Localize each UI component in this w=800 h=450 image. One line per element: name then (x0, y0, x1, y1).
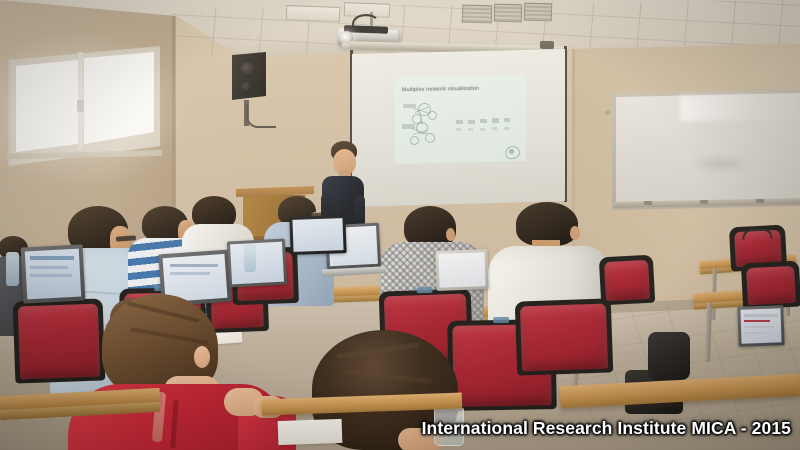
slide-smallmultiple (468, 120, 475, 124)
attendee-red-top (68, 288, 296, 450)
laptop-screen-content (744, 314, 778, 317)
slide-smallmultiple (480, 119, 487, 123)
ceiling-vent (524, 3, 552, 22)
laptop-screen-content (30, 266, 68, 269)
whiteboard-tray-clip (644, 201, 652, 205)
slide-smallmultiple (468, 128, 473, 131)
window-light-glow (0, 30, 190, 190)
chair-cushion (520, 304, 608, 372)
slide-smallmultiple (492, 118, 499, 123)
water-bottle[interactable] (6, 252, 19, 286)
chair[interactable] (741, 261, 800, 310)
slide-smallmultiple (480, 128, 485, 131)
ear (570, 226, 580, 240)
laptop[interactable] (738, 306, 792, 350)
slide-smallmultiple (492, 127, 497, 130)
slide-smallmultiple (456, 120, 463, 124)
chair-tag (493, 317, 509, 323)
slide-logo-inner-icon (509, 149, 514, 154)
slide-smallmultiple (504, 118, 510, 122)
laptop-screen-content (170, 264, 218, 267)
chair[interactable] (599, 255, 655, 306)
ceiling-vent (462, 5, 492, 24)
laptop-screen-content (170, 272, 210, 275)
laptop-screen-content (744, 332, 766, 334)
wall-hook (605, 110, 610, 115)
chair-handle (742, 228, 772, 240)
speaker-cable (246, 104, 276, 128)
slide-smallmultiple (456, 128, 461, 131)
laptop-screen (230, 242, 284, 285)
whiteboard-smudge (690, 155, 752, 173)
backpack (648, 332, 690, 380)
whiteboard-tray-clip (700, 200, 708, 204)
screen-roller-end-cap (540, 41, 554, 49)
chair-cushion (746, 266, 796, 305)
water-bottle[interactable] (244, 244, 256, 272)
laptop-screen (438, 252, 485, 288)
chair-tag (417, 287, 433, 294)
laptop-screen-content (30, 274, 72, 277)
chair-cushion (604, 260, 650, 301)
paper-sheet (278, 419, 343, 445)
whiteboard-tray-clip (756, 199, 764, 203)
slide-network-node (425, 133, 435, 143)
laptop[interactable] (290, 216, 352, 260)
laptop[interactable] (436, 250, 494, 296)
laptop-screen (292, 218, 343, 252)
laptop[interactable] (228, 240, 292, 292)
speaker-cone-icon (240, 62, 255, 77)
slide-network-node (428, 111, 437, 120)
laptop-screen-content (744, 320, 770, 322)
ear (446, 228, 455, 241)
slide-network-node (410, 136, 419, 145)
ceiling-vent (494, 4, 522, 23)
laptop-screen-content (744, 326, 774, 328)
ceiling-light-panel (286, 5, 340, 22)
ear (194, 346, 210, 368)
speaker-tweeter-icon (241, 82, 252, 93)
photograph: Multiplex network visualization (0, 0, 800, 450)
slide-smallmultiple (504, 127, 509, 130)
laptop-screen-content (30, 256, 74, 260)
whiteboard-glare (680, 92, 800, 121)
photo-caption: International Research Institute MICA - … (422, 418, 791, 439)
chair[interactable] (515, 298, 614, 375)
